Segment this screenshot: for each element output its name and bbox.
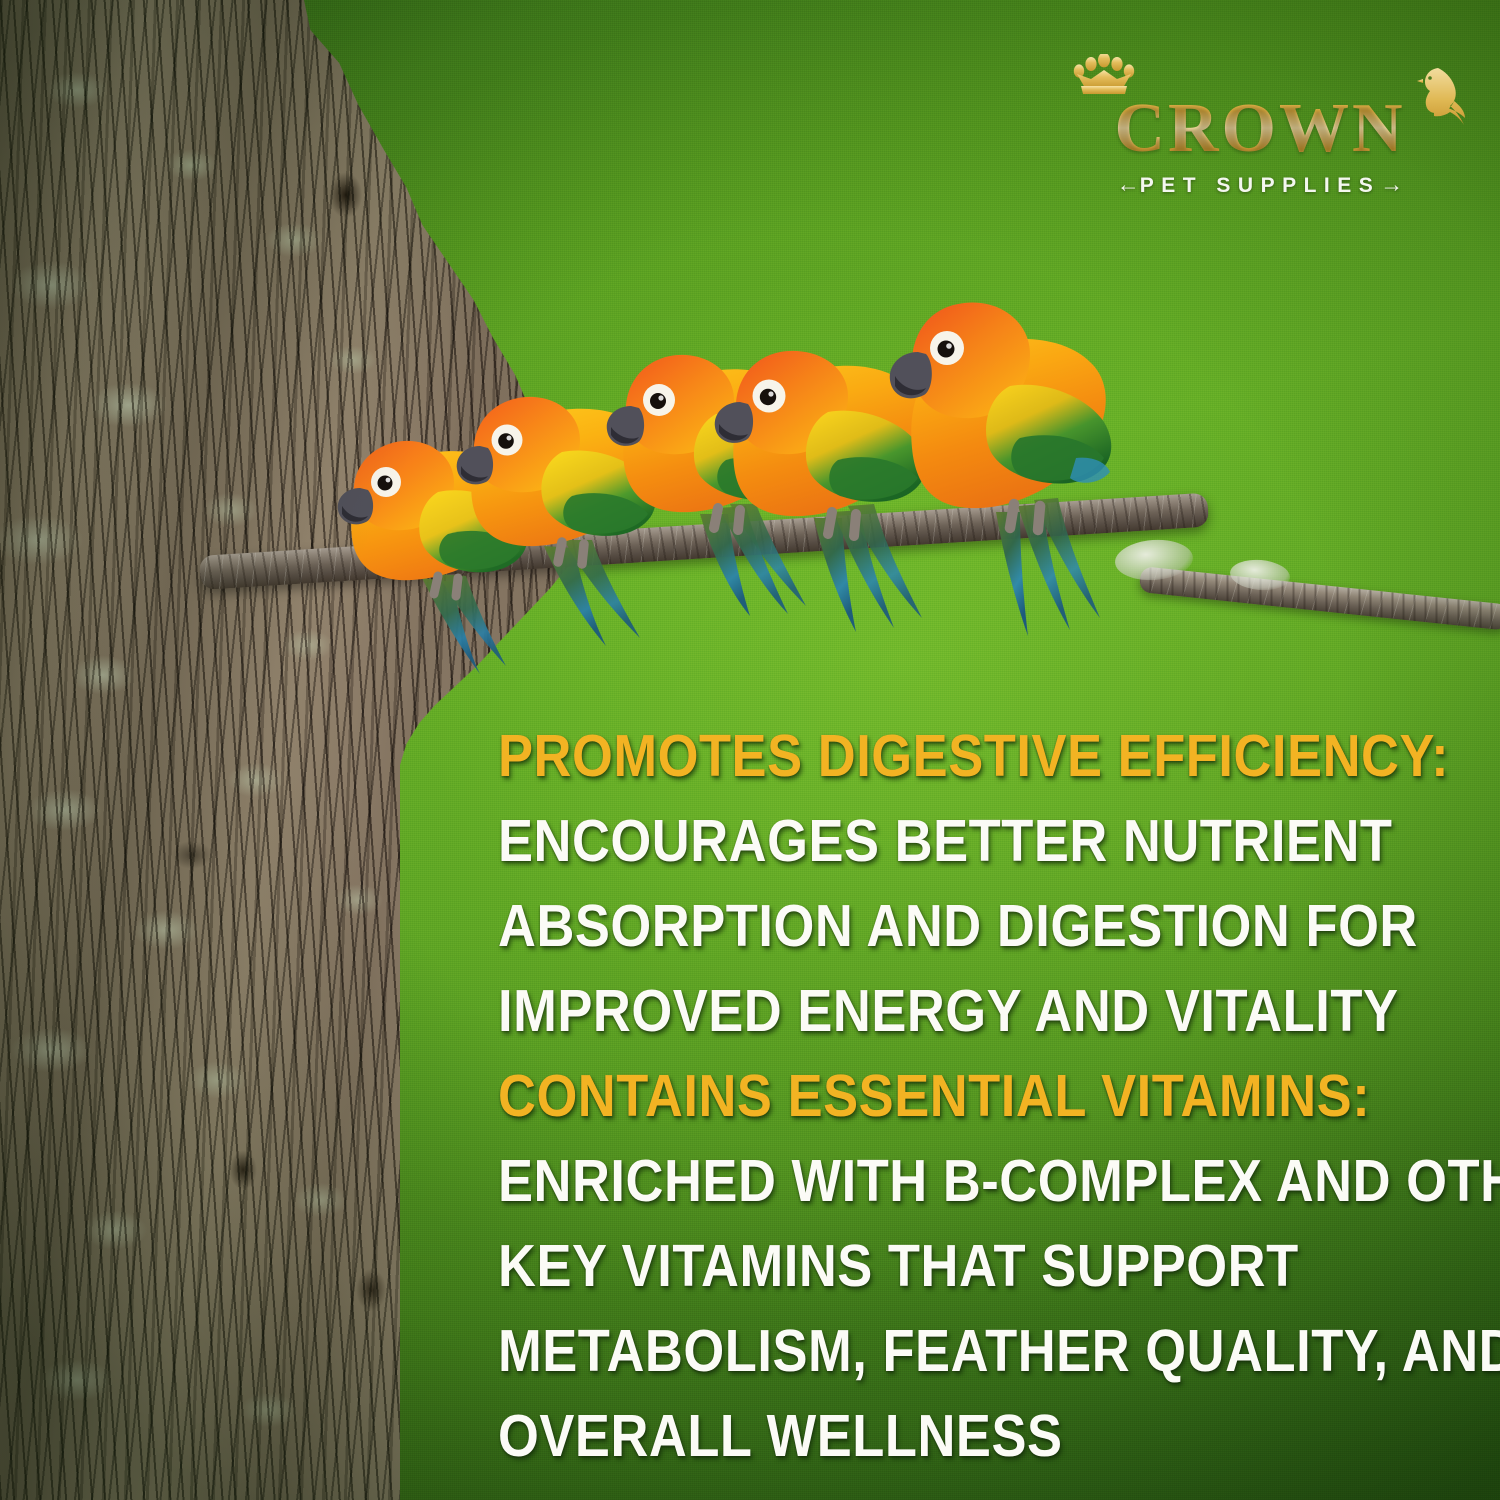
- tagline-text: PET SUPPLIES: [1140, 174, 1381, 197]
- arrow-right-icon: →: [1380, 171, 1403, 197]
- benefit-line-2-4: OVERALL WELLNESS: [498, 1386, 1500, 1486]
- arrow-left-icon: ←: [1117, 171, 1140, 197]
- product-feature-banner: CROWN ←PET SUPPLIES→ PROMOTES DIGESTIVE …: [0, 0, 1500, 1500]
- bird-silhouette-icon: [1416, 64, 1466, 128]
- brand-logo[interactable]: CROWN ←PET SUPPLIES→: [1060, 58, 1460, 203]
- brand-tagline: ←PET SUPPLIES→: [1060, 171, 1460, 198]
- crown-icon: [1072, 54, 1136, 98]
- benefits-copy: PROMOTES DIGESTIVE EFFICIENCY: ENCOURAGE…: [498, 714, 1498, 1479]
